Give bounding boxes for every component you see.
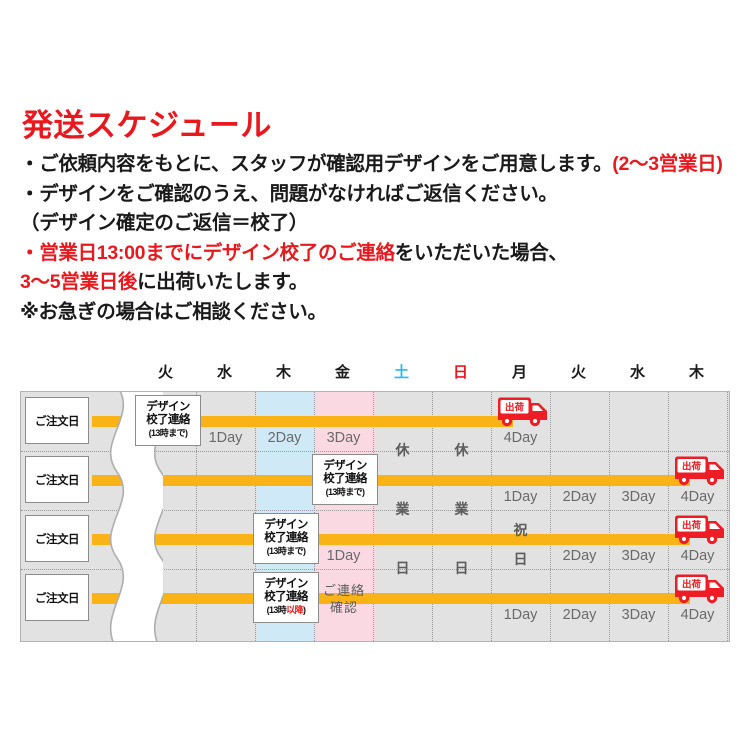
text-segment: ※お急ぎの場合はご相談ください。 [20, 301, 327, 323]
day-count-label: 3Day [609, 489, 668, 505]
text-segment: デザイン校了のご連絡 [203, 242, 395, 264]
order-date-box: ご注文日 [25, 574, 89, 621]
day-header-木: 木 [667, 363, 726, 383]
day-count-label: 2Day [550, 548, 609, 564]
confirm-line2: 確認 [313, 599, 375, 616]
design-box-line2: 校了連絡 [146, 414, 190, 427]
design-box-line2: 校了連絡 [264, 591, 308, 604]
closed-days-vertical-text: 日 [432, 558, 491, 578]
day-header-水: 水 [195, 363, 254, 383]
design-box-deadline-note: (13時まで) [326, 486, 365, 499]
design-box-line1: デザイン [264, 578, 308, 591]
deadline-note-suffix: ) [303, 605, 305, 615]
description-line: （デザイン確定のご返信＝校了） [20, 209, 736, 239]
design-box-line1: デザイン [264, 519, 308, 532]
day-header-土: 土 [372, 363, 431, 383]
design-approval-box: デザイン校了連絡(13時まで) [312, 454, 378, 505]
description-text: ・ご依頼内容をもとに、スタッフが確認用デザインをご用意します。(2〜3営業日)・… [20, 150, 736, 327]
ship-day-count-label: 4Day [668, 548, 727, 564]
day-count-label: 1Day [491, 607, 550, 623]
closed-days-vertical-text: 業 [373, 499, 432, 519]
svg-text:出荷: 出荷 [682, 519, 702, 531]
confirm-line1: ご連絡 [313, 582, 375, 599]
shipping-truck-icon: 出荷 [667, 513, 729, 547]
public-holiday-marker: 祝 [491, 520, 550, 540]
text-segment: ・デザインをご確認のうえ、問題がなければご返信ください。 [20, 183, 558, 205]
design-approval-box: デザイン校了連絡(13時以降) [253, 572, 319, 623]
order-date-box: ご注文日 [25, 515, 89, 562]
day-header-金: 金 [313, 363, 372, 383]
text-segment: ・営業日13:00までに [20, 242, 203, 264]
day-header-日: 日 [431, 363, 490, 383]
day-count-label: 2Day [550, 607, 609, 623]
design-box-line2: 校了連絡 [264, 532, 308, 545]
day-count-label: 3Day [609, 607, 668, 623]
design-box-deadline-note: (13時以降) [267, 604, 306, 617]
closed-days-vertical-text: 日 [373, 558, 432, 578]
closed-days-vertical-text: 業 [432, 499, 491, 519]
timeline-bar [92, 593, 690, 604]
text-segment: をいただいた場合、 [395, 242, 568, 264]
order-date-box: ご注文日 [25, 456, 89, 503]
public-holiday-marker-sub: 日 [491, 549, 550, 569]
day-header-水: 水 [608, 363, 667, 383]
day-count-label: 3Day [314, 430, 373, 446]
schedule-table: ご注文日デザイン校了連絡(13時まで)1Day2Day3Day出荷4Dayご注文… [20, 391, 730, 642]
day-header-木: 木 [254, 363, 313, 383]
day-count-label: 1Day [314, 548, 373, 564]
timeline-bar [92, 475, 690, 486]
deadline-note-prefix: (13時 [267, 605, 287, 615]
svg-text:出荷: 出荷 [682, 460, 702, 472]
day-header-火: 火 [136, 363, 195, 383]
text-segment: （デザイン確定のご返信＝校了） [20, 212, 308, 234]
description-line: ・営業日13:00までにデザイン校了のご連絡をいただいた場合、 [20, 239, 736, 269]
ship-day-count-label: 4Day [491, 430, 550, 446]
svg-text:出荷: 出荷 [682, 578, 702, 590]
design-box-line1: デザイン [146, 401, 190, 414]
shipping-truck-icon: 出荷 [667, 454, 729, 488]
text-segment: ・ご依頼内容をもとに、スタッフが確認用デザインをご用意します。 [20, 153, 612, 175]
description-line: ・ご依頼内容をもとに、スタッフが確認用デザインをご用意します。(2〜3営業日) [20, 150, 736, 180]
ship-day-count-label: 4Day [668, 607, 727, 623]
day-count-label: 3Day [609, 548, 668, 564]
timeline-bar [92, 534, 690, 545]
description-line: ・デザインをご確認のうえ、問題がなければご返信ください。 [20, 180, 736, 210]
design-approval-box: デザイン校了連絡(13時まで) [135, 395, 201, 446]
shipping-schedule-infographic: 発送スケジュール ・ご依頼内容をもとに、スタッフが確認用デザインをご用意します。… [0, 0, 750, 750]
day-count-label: 2Day [255, 430, 314, 446]
shipping-truck-icon: 出荷 [667, 572, 729, 606]
closed-days-vertical-text: 休 [432, 440, 491, 460]
svg-text:出荷: 出荷 [505, 401, 525, 413]
description-line: 3〜5営業日後に出荷いたします。 [20, 268, 736, 298]
design-box-line2: 校了連絡 [323, 473, 367, 486]
design-box-line1: デザイン [323, 460, 367, 473]
ship-day-count-label: 4Day [668, 489, 727, 505]
closed-days-vertical-text: 休 [373, 440, 432, 460]
day-header-月: 月 [490, 363, 549, 383]
day-count-label: 2Day [550, 489, 609, 505]
description-line: ※お急ぎの場合はご相談ください。 [20, 298, 736, 328]
day-count-label: 1Day [491, 489, 550, 505]
shipping-truck-icon: 出荷 [490, 395, 552, 429]
design-box-deadline-note: (13時まで) [267, 545, 306, 558]
deadline-note-highlight: 以降 [286, 605, 303, 615]
design-box-deadline-note: (13時まで) [149, 427, 188, 440]
day-count-label: 1Day [196, 430, 255, 446]
text-segment: に出荷いたします。 [137, 271, 308, 293]
design-approval-box: デザイン校了連絡(13時まで) [253, 513, 319, 564]
day-header-火: 火 [549, 363, 608, 383]
order-date-box: ご注文日 [25, 397, 89, 444]
day-of-week-header: 火水木金土日月火水木 [20, 363, 730, 389]
text-segment: 3〜5営業日後 [20, 271, 137, 293]
page-title: 発送スケジュール [22, 100, 272, 145]
contact-confirmation-label: ご連絡確認 [313, 582, 375, 616]
text-segment: (2〜3営業日) [612, 153, 722, 175]
